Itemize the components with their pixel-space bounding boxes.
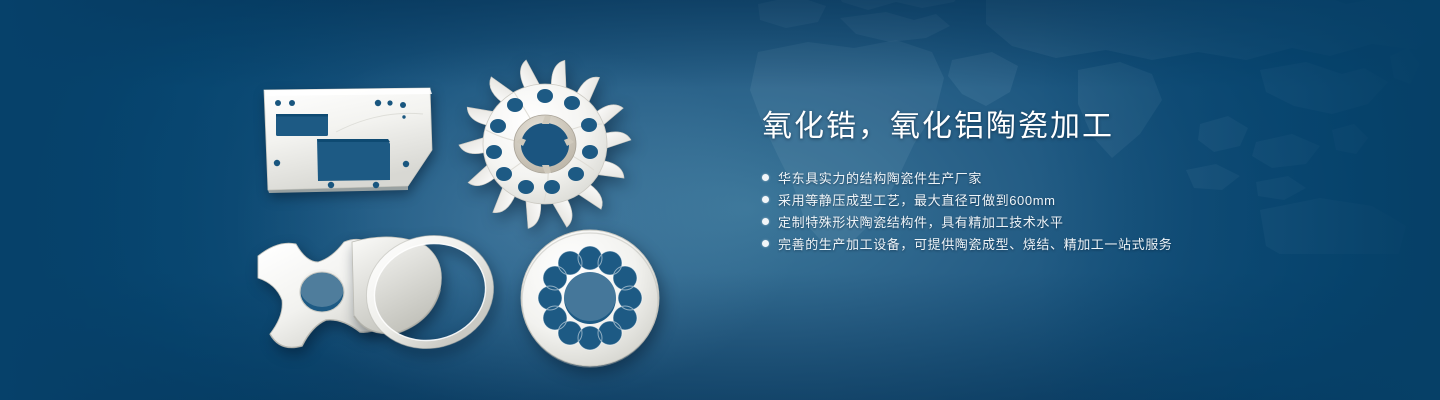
banner-copy: 氧化锆，氧化铝陶瓷加工 华东具实力的结构陶瓷件生产厂家 采用等静压成型工艺，最大…: [762, 108, 1362, 255]
bullet-dot-icon: [762, 240, 769, 247]
list-item-label: 采用等静压成型工艺，最大直径可做到600mm: [778, 190, 1056, 209]
ceramic-perforated-disc-image: [516, 226, 664, 370]
ceramic-plate-image: [258, 84, 438, 196]
product-image-group: [0, 0, 720, 400]
ceramic-ring-image: [348, 228, 512, 358]
bullet-dot-icon: [762, 218, 769, 225]
feature-list: 华东具实力的结构陶瓷件生产厂家 采用等静压成型工艺，最大直径可做到600mm 定…: [762, 167, 1362, 255]
list-item: 完善的生产加工设备，可提供陶瓷成型、烧结、精加工一站式服务: [762, 233, 1362, 255]
hero-banner: 氧化锆，氧化铝陶瓷加工 华东具实力的结构陶瓷件生产厂家 采用等静压成型工艺，最大…: [0, 0, 1440, 400]
bullet-dot-icon: [762, 196, 769, 203]
list-item-label: 完善的生产加工设备，可提供陶瓷成型、烧结、精加工一站式服务: [778, 234, 1172, 253]
list-item-label: 华东具实力的结构陶瓷件生产厂家: [778, 168, 982, 187]
list-item: 定制特殊形状陶瓷结构件，具有精加工技术水平: [762, 211, 1362, 233]
list-item: 采用等静压成型工艺，最大直径可做到600mm: [762, 189, 1362, 211]
list-item: 华东具实力的结构陶瓷件生产厂家: [762, 167, 1362, 189]
ceramic-impeller-image: [452, 52, 638, 240]
list-item-label: 定制特殊形状陶瓷结构件，具有精加工技术水平: [778, 212, 1064, 231]
page-title: 氧化锆，氧化铝陶瓷加工: [762, 108, 1362, 146]
bullet-dot-icon: [762, 174, 769, 181]
